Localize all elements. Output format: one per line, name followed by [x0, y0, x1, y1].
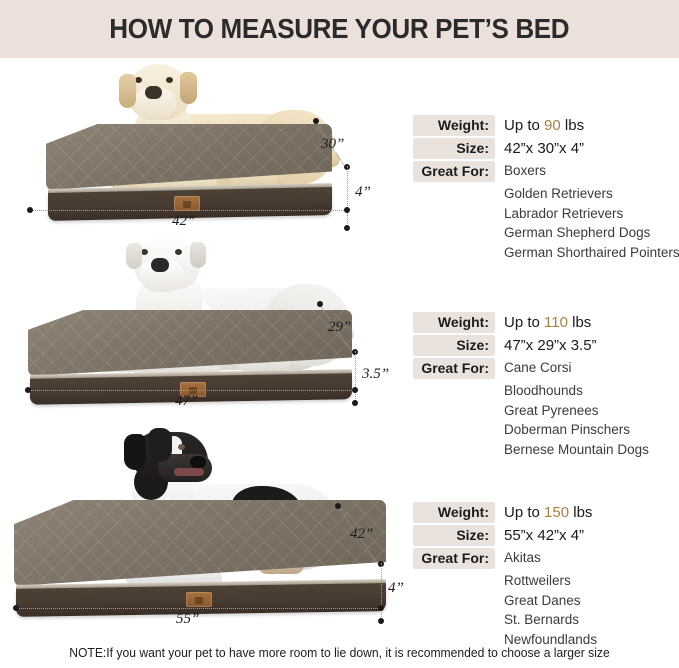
- dim-label-height-xxlarge: 4”: [388, 580, 404, 597]
- size-block-large: 30” 4” 42” Weight: Up to 90 lbs Size: 42…: [0, 58, 679, 230]
- weight-suffix: lbs: [565, 117, 584, 134]
- dim-label-height-xlarge: 3.5”: [362, 366, 389, 383]
- value-weight: Up to 110 lbs: [504, 312, 591, 333]
- weight-prefix: Up to: [504, 314, 540, 331]
- breed-item: Boxers: [504, 161, 546, 181]
- dim-label-length-xxlarge: 55”: [176, 611, 199, 628]
- dim-label-width-xlarge: 29”: [328, 319, 351, 336]
- breed-item: Great Danes: [504, 591, 597, 611]
- dim-dot: [13, 605, 19, 611]
- weight-suffix: lbs: [572, 314, 591, 331]
- label-weight: Weight:: [413, 115, 495, 136]
- breed-item: Labrador Retrievers: [504, 204, 679, 224]
- dim-dot: [378, 618, 384, 624]
- dim-label-width-large: 30”: [321, 136, 344, 153]
- dim-label-length-large: 42”: [172, 213, 195, 230]
- spec-row-great-for: Great For: Akitas: [413, 548, 597, 569]
- weight-prefix: Up to: [504, 117, 540, 134]
- spec-row-great-for: Great For: Boxers: [413, 161, 679, 182]
- dim-dot: [313, 118, 319, 124]
- value-weight: Up to 150 lbs: [504, 502, 592, 523]
- spec-row-size: Size: 42”x 30”x 4”: [413, 138, 679, 159]
- brand-tag-icon: [174, 196, 200, 211]
- label-great-for: Great For:: [413, 358, 495, 379]
- dim-dot: [344, 225, 350, 231]
- spec-row-weight: Weight: Up to 90 lbs: [413, 115, 679, 136]
- spec-row-great-for: Great For: Cane Corsi: [413, 358, 649, 379]
- spec-row-size: Size: 55”x 42”x 4”: [413, 525, 597, 546]
- bed-quilted-top: [28, 310, 352, 376]
- weight-number: 110: [544, 314, 568, 331]
- label-size: Size:: [413, 335, 495, 356]
- bed-quilted-top: [46, 124, 332, 190]
- value-size: 47”x 29”x 3.5”: [504, 335, 597, 356]
- weight-number: 150: [544, 504, 569, 521]
- spec-row-size: Size: 47”x 29”x 3.5”: [413, 335, 649, 356]
- label-great-for: Great For:: [413, 161, 495, 182]
- spec-row-weight: Weight: Up to 150 lbs: [413, 502, 597, 523]
- dim-dot: [27, 207, 33, 213]
- breed-item: Golden Retrievers: [504, 184, 679, 204]
- dim-dot: [378, 605, 384, 611]
- size-block-xxlarge: 42” 4” 55” Weight: Up to 150 lbs Size: 5…: [0, 428, 679, 640]
- dim-label-width-xxlarge: 42”: [350, 526, 373, 543]
- value-size: 42”x 30”x 4”: [504, 138, 584, 159]
- dim-label-length-xlarge: 47”: [175, 393, 198, 410]
- breed-item: Cane Corsi: [504, 358, 572, 378]
- page-title: HOW TO MEASURE YOUR PET’S BED: [110, 13, 570, 45]
- weight-suffix: lbs: [573, 504, 592, 521]
- dim-dot: [352, 400, 358, 406]
- dim-dot: [335, 503, 341, 509]
- label-great-for: Great For:: [413, 548, 495, 569]
- label-size: Size:: [413, 525, 495, 546]
- pet-bed-xxlarge: [8, 500, 386, 624]
- dim-dot: [352, 387, 358, 393]
- breed-item: St. Bernards: [504, 610, 597, 630]
- breed-item: Bloodhounds: [504, 381, 649, 401]
- footer-note: NOTE:If you want your pet to have more r…: [10, 646, 669, 660]
- page-header: HOW TO MEASURE YOUR PET’S BED: [0, 0, 679, 58]
- value-size: 55”x 42”x 4”: [504, 525, 584, 546]
- brand-tag-icon: [186, 592, 212, 607]
- dim-dot: [25, 387, 31, 393]
- breed-list-xxlarge: Rottweilers Great Danes St. Bernards New…: [504, 571, 597, 649]
- dim-dot: [317, 301, 323, 307]
- spec-panel-xxlarge: Weight: Up to 150 lbs Size: 55”x 42”x 4”…: [413, 502, 597, 649]
- weight-prefix: Up to: [504, 504, 540, 521]
- size-block-xlarge: 29” 3.5” 47” Weight: Up to 110 lbs Size:…: [0, 234, 679, 424]
- weight-number: 90: [544, 117, 561, 134]
- label-size: Size:: [413, 138, 495, 159]
- label-weight: Weight:: [413, 502, 495, 523]
- dim-dot: [344, 207, 350, 213]
- value-weight: Up to 90 lbs: [504, 115, 584, 136]
- dim-label-height-large: 4”: [355, 184, 371, 201]
- bed-quilted-top: [14, 500, 386, 586]
- breed-item: Akitas: [504, 548, 541, 568]
- label-weight: Weight:: [413, 312, 495, 333]
- breed-item: Rottweilers: [504, 571, 597, 591]
- spec-row-weight: Weight: Up to 110 lbs: [413, 312, 649, 333]
- breed-item: Great Pyrenees: [504, 401, 649, 421]
